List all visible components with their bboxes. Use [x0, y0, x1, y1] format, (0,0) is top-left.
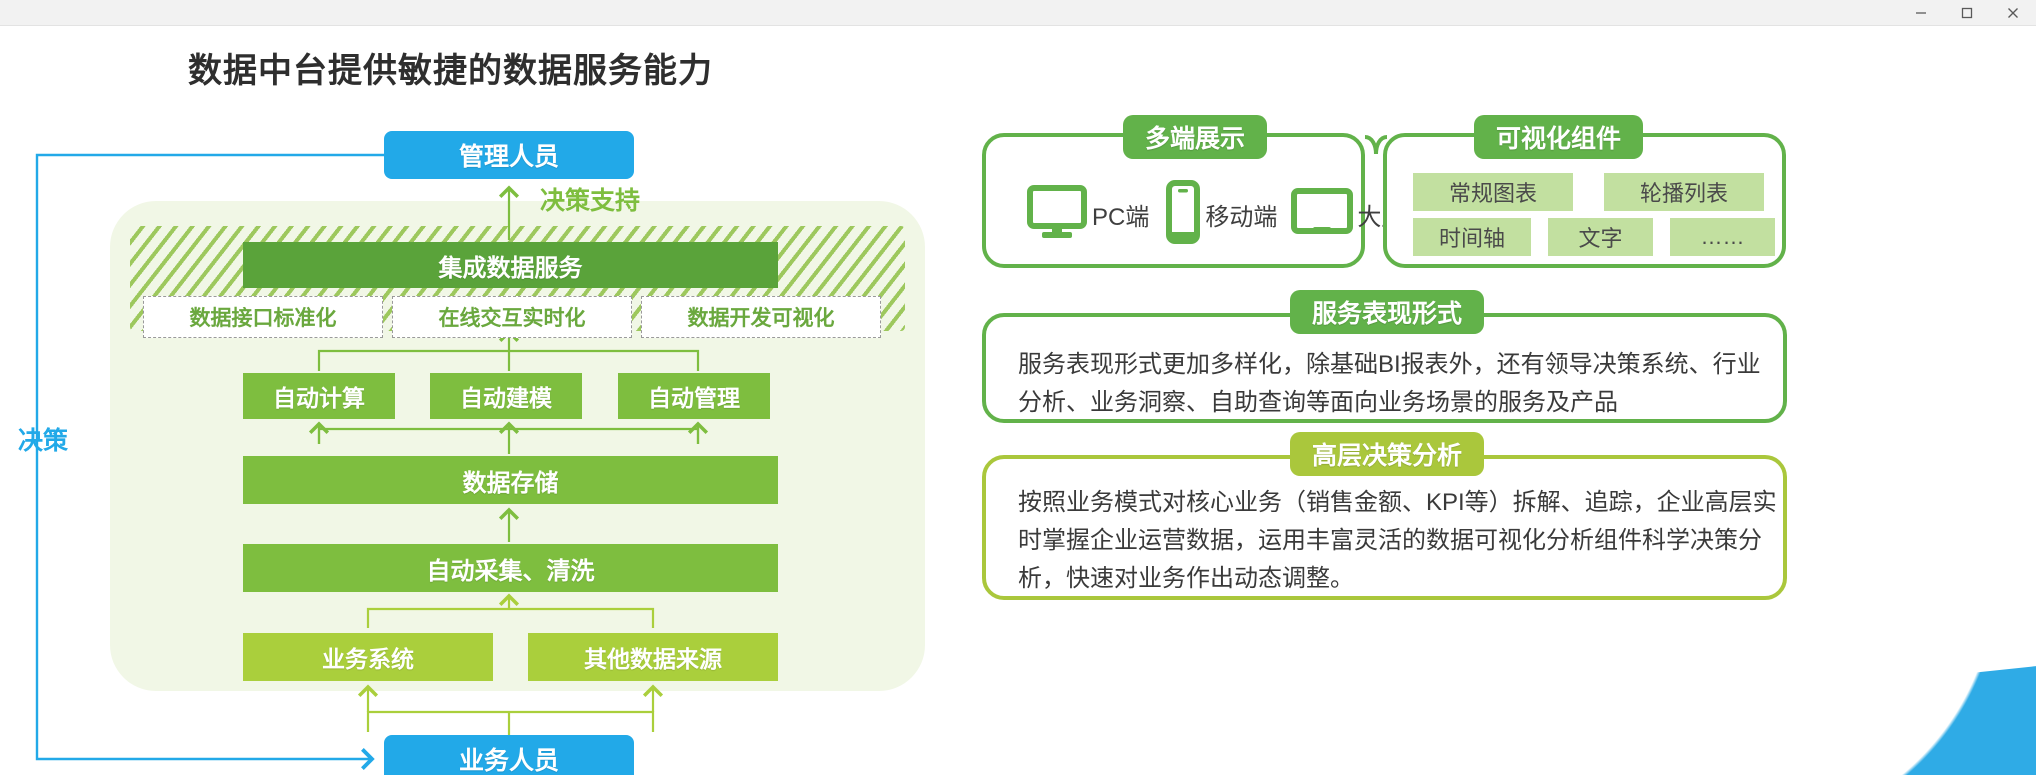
node-auto-collect-clean[interactable]: 自动采集、清洗: [243, 544, 778, 592]
device-mobile-label: 移动端: [1205, 197, 1277, 232]
card-tab-service-form[interactable]: 服务表现形式: [1290, 290, 1484, 334]
card-tab-high-level-decision[interactable]: 高层决策分析: [1290, 432, 1484, 476]
node-manager[interactable]: 管理人员: [384, 131, 634, 179]
node-integrated-data-service[interactable]: 集成数据服务: [243, 242, 778, 288]
large-screen-icon: [1291, 187, 1353, 242]
node-staff[interactable]: 业务人员: [384, 735, 634, 775]
mobile-phone-icon: [1165, 180, 1201, 249]
right-diagram-panel: 数据中台赋能企业管理决策 多端展示 PC端: [1000, 26, 2036, 775]
tag-online-interaction-realtime[interactable]: 在线交互实时化: [392, 296, 632, 338]
node-other-data-sources[interactable]: 其他数据来源: [528, 633, 778, 681]
viz-tag-text[interactable]: 文字: [1548, 218, 1653, 256]
device-mobile[interactable]: 移动端: [1165, 180, 1277, 249]
card-tab-visualization-components[interactable]: 可视化组件: [1474, 115, 1643, 159]
viz-tag-more[interactable]: ……: [1670, 218, 1775, 256]
node-auto-compute[interactable]: 自动计算: [243, 373, 395, 419]
device-pc-label: PC端: [1092, 197, 1149, 232]
node-data-storage[interactable]: 数据存储: [243, 456, 778, 504]
device-pc[interactable]: PC端: [1026, 182, 1149, 247]
desktop-monitor-icon: [1026, 182, 1088, 247]
device-list: PC端 移动端 大屏: [1008, 169, 1388, 259]
viz-tag-standard-chart[interactable]: 常规图表: [1413, 173, 1573, 211]
minimize-icon[interactable]: [1898, 0, 1944, 26]
card-body-high-level-decision: 按照业务模式对核心业务（销售金额、KPI等）拆解、追踪，企业高层实时掌握企业运营…: [1018, 484, 1778, 598]
card-tab-multi-terminal[interactable]: 多端展示: [1123, 115, 1267, 159]
tag-data-interface-standardization[interactable]: 数据接口标准化: [143, 296, 383, 338]
window-titlebar: [0, 0, 2036, 26]
slide-canvas: 数据中台提供敏捷的数据服务能力: [0, 26, 2036, 775]
maximize-icon[interactable]: [1944, 0, 1990, 26]
edge-label-decision-support: 决策支持: [540, 181, 640, 217]
node-business-system[interactable]: 业务系统: [243, 633, 493, 681]
card-body-service-form: 服务表现形式更加多样化，除基础BI报表外，还有领导决策系统、行业分析、业务洞察、…: [1018, 346, 1778, 422]
node-auto-modeling[interactable]: 自动建模: [430, 373, 582, 419]
tag-data-development-visualization[interactable]: 数据开发可视化: [641, 296, 881, 338]
node-auto-management[interactable]: 自动管理: [618, 373, 770, 419]
edge-label-decision: 决策: [18, 421, 68, 457]
left-diagram-panel: 数据中台提供敏捷的数据服务能力: [0, 26, 1000, 775]
viz-tag-timeline[interactable]: 时间轴: [1413, 218, 1531, 256]
close-icon[interactable]: [1990, 0, 2036, 26]
viz-tag-carousel-list[interactable]: 轮播列表: [1604, 173, 1764, 211]
